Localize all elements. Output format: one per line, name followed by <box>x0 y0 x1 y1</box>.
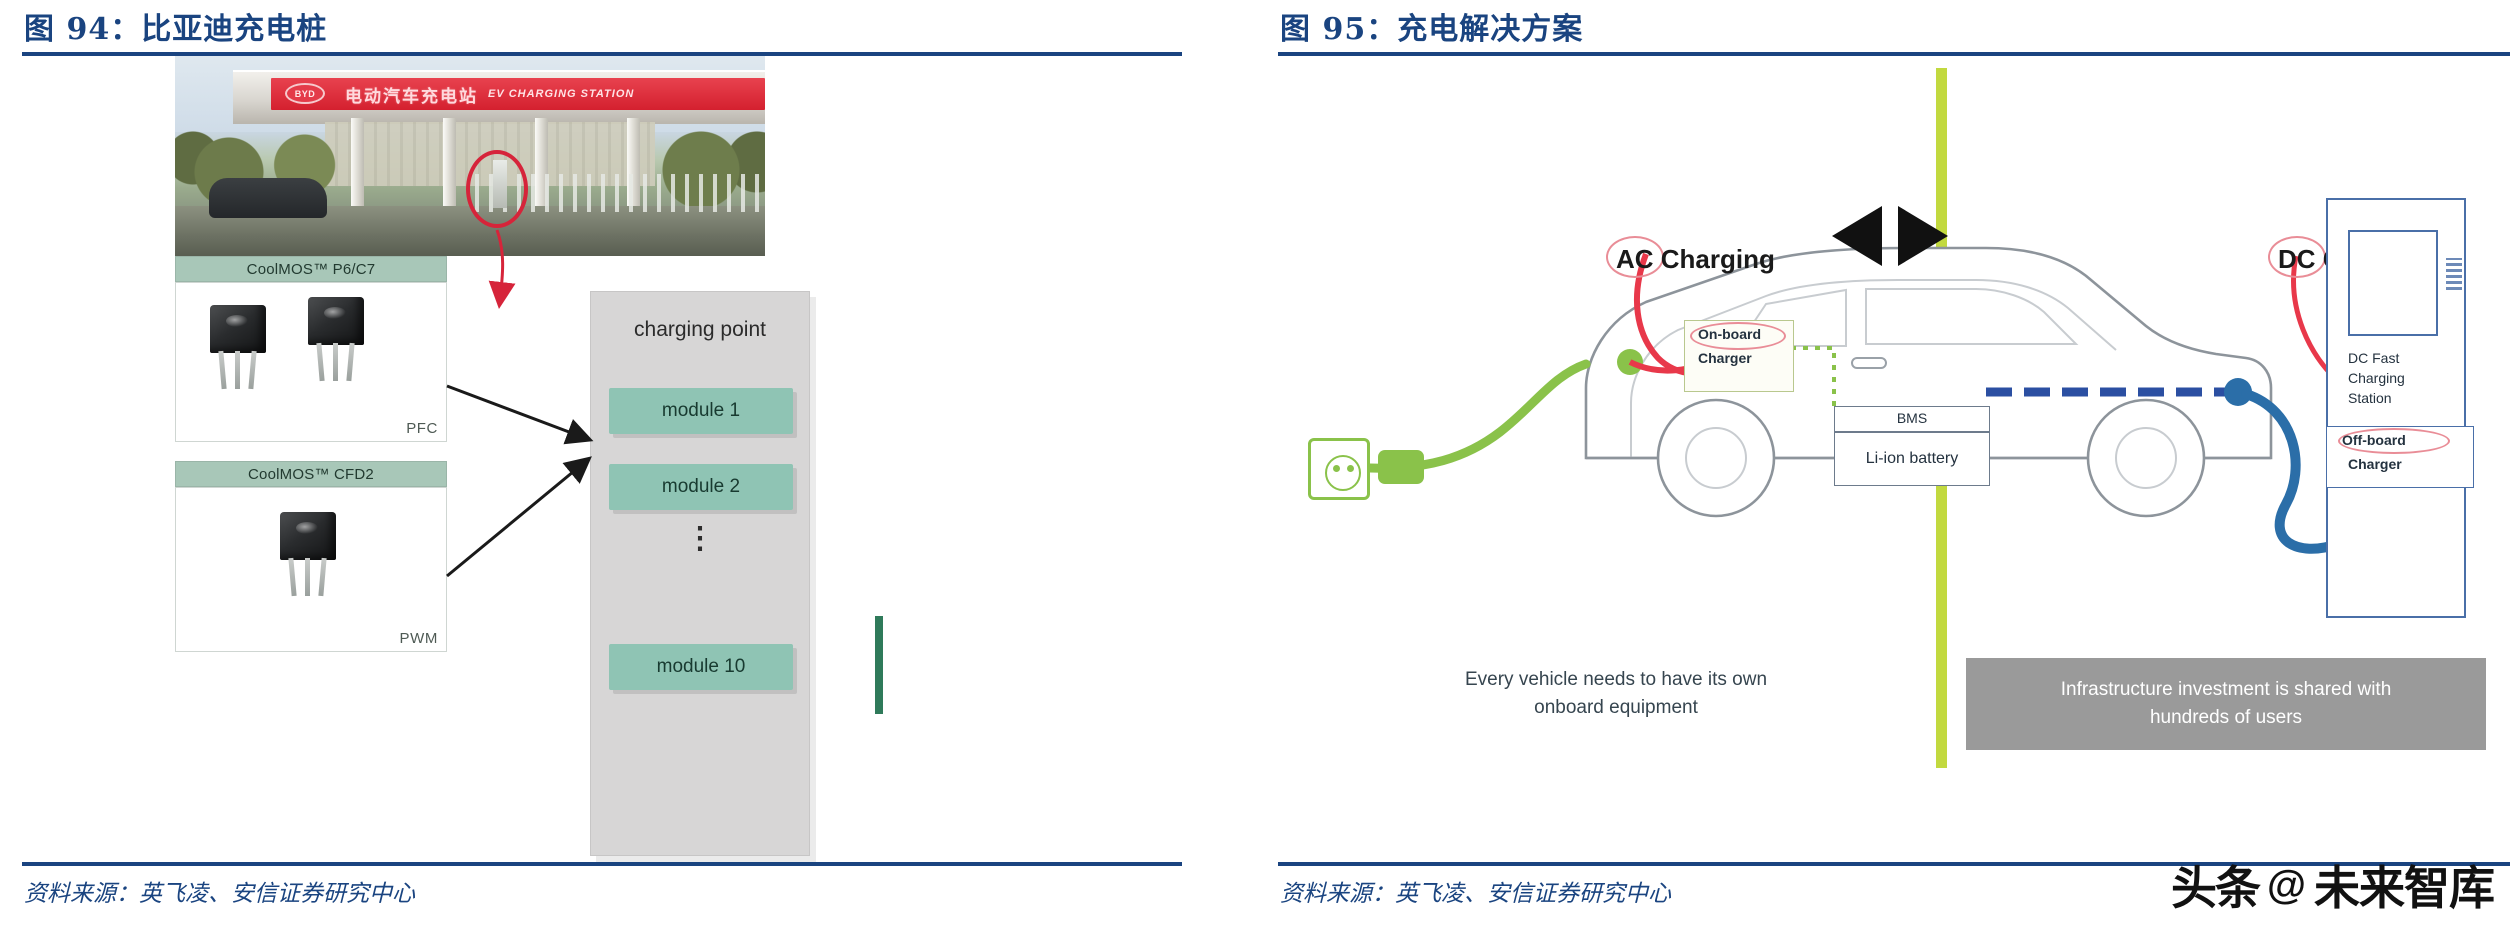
watermark: 头条 @ 未来智库 <box>2171 852 2494 918</box>
transistor-leg <box>218 351 226 389</box>
right-caption: Infrastructure investment is shared with… <box>1966 658 2486 750</box>
figure-95-panel: 图 95：充电解决方案 <box>1256 0 2512 934</box>
left-caption-line1: Every vehicle needs to have its own <box>1326 666 1906 694</box>
off-board-charger-label-line2: Charger <box>2348 456 2402 473</box>
figure-95-source: 资料来源：英飞凌、安信证券研究中心 <box>1280 874 1671 908</box>
device-block-pwm: CoolMOS™ CFD2 PWM <box>175 461 447 652</box>
byd-charging-station-photo: 电动汽车充电站 EV CHARGING STATION BYD <box>175 56 765 256</box>
bms-label: BMS <box>1834 410 1990 427</box>
banner-english-text: EV CHARGING STATION <box>488 88 634 100</box>
transistor-leg <box>248 351 256 389</box>
transistor-leg <box>288 558 296 596</box>
watermark-toutiao: 头条 <box>2171 852 2259 918</box>
transistor-leg <box>333 343 338 381</box>
transistor-package <box>280 512 336 560</box>
device-body: PWM <box>175 487 447 652</box>
station-keypad <box>2446 258 2462 290</box>
dc-fast-station-label-line3: Station <box>2348 390 2392 407</box>
photo-banner: 电动汽车充电站 EV CHARGING STATION <box>271 78 765 110</box>
ellipsis-dots: ⋮ <box>591 530 809 548</box>
right-caption-line1: Infrastructure investment is shared with <box>2061 676 2392 704</box>
device-body: PFC <box>175 282 447 442</box>
dc-fast-station-label-line2: Charging <box>2348 370 2405 387</box>
transistor-leg <box>346 343 354 381</box>
device-header-label: CoolMOS™ CFD2 <box>175 461 447 487</box>
byd-logo: BYD <box>285 83 325 104</box>
figure-94-artwork: 电动汽车充电站 EV CHARGING STATION BYD <box>175 56 1005 856</box>
wall-socket-icon <box>1308 438 1370 500</box>
device-block-pfc: CoolMOS™ P6/C7 PFC <box>175 256 447 442</box>
banner-chinese-text: 电动汽车充电站 <box>345 82 478 107</box>
transistor-package <box>308 297 364 345</box>
transistor-package <box>210 305 266 353</box>
charging-point-box: charging point module 1 module 2 ⋮ modul… <box>590 291 810 856</box>
highlight-ellipse <box>466 150 528 228</box>
transistor-body <box>210 305 266 353</box>
right-caption-line2: hundreds of users <box>2061 704 2392 732</box>
figure-94-source: 资料来源：英飞凌、安信证券研究中心 <box>24 874 415 908</box>
dc-fast-station-label-line1: DC Fast <box>2348 350 2399 367</box>
figure-94-title: 图 94：比亚迪充电桩 <box>24 4 327 48</box>
transistor-body <box>308 297 364 345</box>
device-tag-pwm: PWM <box>400 630 438 647</box>
module-item: module 1 <box>609 388 793 434</box>
charging-point-title: charging point <box>591 318 809 342</box>
photo-car <box>209 178 327 218</box>
figure-95-artwork: AC Charging DC Charging On-board Charger… <box>1286 58 2486 858</box>
figure-94-panel: 图 94：比亚迪充电桩 电动汽车充电站 EV CHARGING STATION … <box>0 0 1200 934</box>
battery-label: Li-ion battery <box>1834 450 1990 467</box>
on-board-charger-label-line1: On-board <box>1698 326 1761 343</box>
figure-94-bottom-rule <box>22 862 1182 866</box>
device-header-label: CoolMOS™ P6/C7 <box>175 256 447 282</box>
green-accent-bar <box>875 616 883 714</box>
watermark-at-symbol: @ <box>2267 863 2306 908</box>
transistor-leg <box>305 558 310 596</box>
ac-charging-label: AC Charging <box>1616 244 1775 275</box>
watermark-zhiku: 未来智库 <box>2314 852 2494 918</box>
photo-pillar <box>443 118 456 210</box>
figure-95-title: 图 95：充电解决方案 <box>1280 4 1583 48</box>
transistor-leg <box>316 343 324 381</box>
figure-95-top-rule <box>1278 52 2510 56</box>
left-caption: Every vehicle needs to have its own onbo… <box>1326 666 1906 722</box>
station-screen <box>2348 230 2438 336</box>
off-board-charger-label-line1: Off-board <box>2342 432 2406 449</box>
module-item: module 10 <box>609 644 793 690</box>
transistor-body <box>280 512 336 560</box>
left-caption-line2: onboard equipment <box>1326 694 1906 722</box>
transistor-leg <box>318 558 326 596</box>
device-tag-pfc: PFC <box>406 420 438 437</box>
module-item: module 2 <box>609 464 793 510</box>
photo-pillar <box>351 118 364 210</box>
on-board-charger-label-line2: Charger <box>1698 350 1752 367</box>
transistor-leg <box>235 351 240 389</box>
figure-page: 图 94：比亚迪充电桩 电动汽车充电站 EV CHARGING STATION … <box>0 0 2512 934</box>
